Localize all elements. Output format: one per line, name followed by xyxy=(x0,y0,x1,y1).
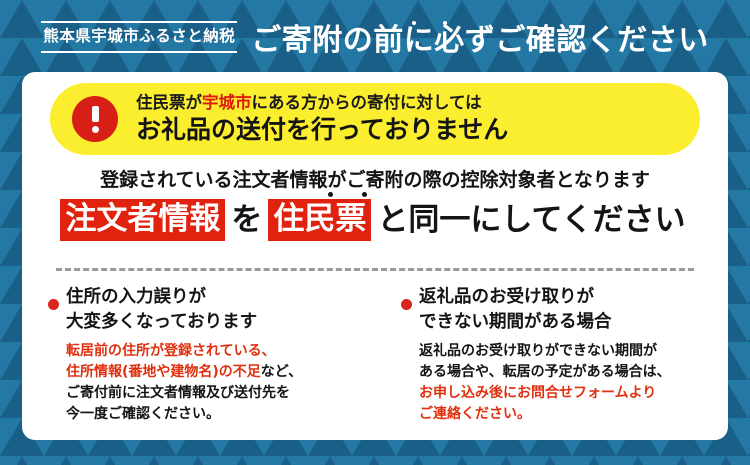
note-body-line: 住所情報(番地や建物名)の不足など、 xyxy=(66,362,365,383)
alert-highlight-city: 宇城市 xyxy=(202,93,252,112)
exclamation-dot xyxy=(92,126,99,133)
note-body-line: 返礼品のお受け取りができない期間が xyxy=(419,341,718,362)
note-heading: 返礼品のお受け取りが できない期間がある場合 xyxy=(419,285,718,335)
highlight-chip-residence-cert: 住民票 xyxy=(268,199,371,242)
note-column-address: 住所の入力誤りが 大変多くなっております 転居前の住所が登録されている、 住所情… xyxy=(22,285,375,426)
banner-header: 熊本県宇城市ふるさと納税 ご寄附の前に必ずご確認ください xyxy=(0,0,750,72)
alert-banner: 住民票が宇城市にある方からの寄付に対しては お礼品の送付を行っておりません xyxy=(50,83,700,155)
note-body-line: ある場合や、転居の予定がある場合は、 xyxy=(419,362,718,383)
alert-line-1: 住民票が宇城市にある方からの寄付に対しては xyxy=(136,93,508,114)
bullet-dot-icon xyxy=(48,299,59,310)
statement-tail: と同一にしてください xyxy=(373,201,689,240)
note-body-text: 返礼品のお受け取りができない期間が xyxy=(419,343,657,359)
note-body-text: など、 xyxy=(261,364,302,380)
highlight-chip-orderer-info: 注文者情報 xyxy=(60,199,225,242)
note-body-text: お申し込み後にお問合せフォームより xyxy=(419,385,656,401)
note-body-line: 転居前の住所が登録されている、 xyxy=(66,341,365,362)
note-body-line: 今一度ご確認ください。 xyxy=(66,404,365,425)
exclamation-circle-icon xyxy=(72,96,118,142)
statement-connector: を xyxy=(227,201,266,240)
page-title: ご寄附の前に必ずご確認ください xyxy=(251,24,709,57)
promo-banner: 熊本県宇城市ふるさと納税 ご寄附の前に必ずご確認ください 住民票が宇城市にある方… xyxy=(0,0,750,465)
exclamation-stem xyxy=(92,106,99,122)
note-heading: 住所の入力誤りが 大変多くなっております xyxy=(66,285,365,335)
note-body-line: ご連絡ください。 xyxy=(419,404,718,425)
content-card: 住民票が宇城市にある方からの寄付に対しては お礼品の送付を行っておりません 登録… xyxy=(22,72,728,440)
statement-line-2-wrap: 注文者情報 を 住民票 と同一にしてください xyxy=(60,199,689,242)
note-body: 返礼品のお受け取りができない期間が ある場合や、転居の予定がある場合は、 お申し… xyxy=(419,341,718,426)
note-body-text: ご寄付前に注文者情報及び送付先を xyxy=(66,385,290,401)
note-body-line: お申し込み後にお問合せフォームより xyxy=(419,383,718,404)
bullet-dot-icon xyxy=(401,299,412,310)
note-column-delivery: 返礼品のお受け取りが できない期間がある場合 返礼品のお受け取りができない期間が… xyxy=(375,285,728,426)
note-heading-line-1: 返礼品のお受け取りが xyxy=(419,285,718,310)
brand-name: 熊本県宇城市ふるさと納税 xyxy=(41,23,237,51)
emphasis-dot-icon xyxy=(362,192,367,197)
brand-block: 熊本県宇城市ふるさと納税 xyxy=(41,19,237,53)
note-body-text: 今一度ご確認ください。 xyxy=(66,406,220,422)
exclamation-glyph xyxy=(72,96,118,142)
emphasis-dot-icon xyxy=(443,21,447,25)
alert-text: 住民票が宇城市にある方からの寄付に対しては お礼品の送付を行っておりません xyxy=(136,93,508,145)
dashed-divider xyxy=(56,268,694,271)
note-body-text: ある場合や、転居の予定がある場合は、 xyxy=(419,364,671,380)
emphasis-dot-icon xyxy=(328,192,333,197)
note-body-text: 転居前の住所が登録されている、 xyxy=(66,343,276,359)
alert-line-2: お礼品の送付を行っておりません xyxy=(136,115,508,145)
brand-rule-bottom xyxy=(41,51,237,53)
note-body-text: ご連絡ください。 xyxy=(419,406,531,422)
emphasis-dot-icon xyxy=(412,21,416,25)
note-heading-line-1: 住所の入力誤りが xyxy=(66,285,365,310)
statement-block: 登録されている注文者情報がご寄附の際の控除対象者となります 注文者情報 を 住民… xyxy=(22,168,728,241)
note-body-text: 住所情報(番地や建物名)の不足 xyxy=(66,364,261,380)
note-heading-line-2: できない期間がある場合 xyxy=(419,310,718,335)
note-body-line: ご寄付前に注文者情報及び送付先を xyxy=(66,383,365,404)
statement-line-2: 注文者情報 を 住民票 と同一にしてください xyxy=(60,199,689,242)
statement-line-1: 登録されている注文者情報がご寄附の際の控除対象者となります xyxy=(22,168,728,193)
note-heading-line-2: 大変多くなっております xyxy=(66,310,365,335)
header-title-wrap: ご寄附の前に必ずご確認ください xyxy=(251,16,709,57)
note-body: 転居前の住所が登録されている、 住所情報(番地や建物名)の不足など、 ご寄付前に… xyxy=(66,341,365,426)
notes-columns: 住所の入力誤りが 大変多くなっております 転居前の住所が登録されている、 住所情… xyxy=(22,285,728,426)
alert-prefix: 住民票が xyxy=(136,93,202,112)
alert-suffix: にある方からの寄付に対しては xyxy=(252,93,482,112)
